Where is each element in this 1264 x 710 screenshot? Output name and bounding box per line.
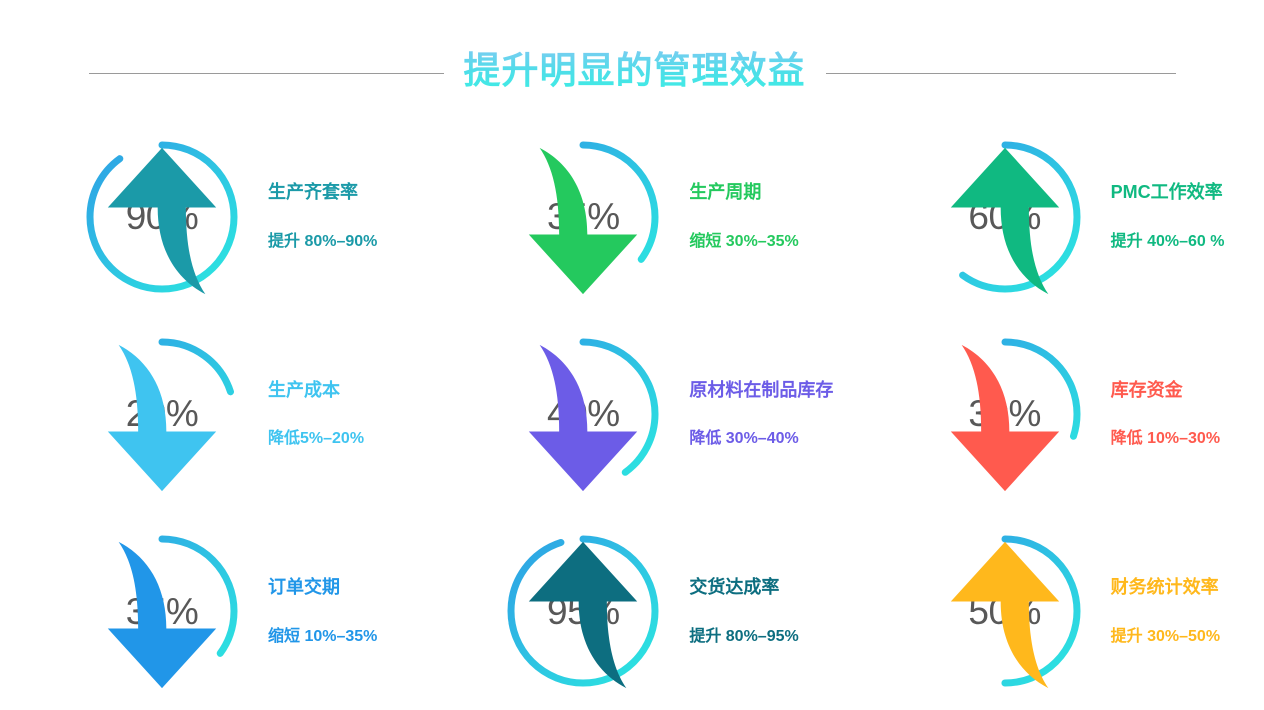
metric-title: 财务统计效率 <box>1111 577 1219 599</box>
metric-cell: 35%订单交期缩短 10%–35% <box>0 513 421 710</box>
metric-cell: 60%PMC工作效率提升 40%–60 % <box>843 118 1264 315</box>
gauge-center: 35% <box>499 133 667 301</box>
metric-labels: 生产齐套率提升 80%–90% <box>268 182 377 251</box>
gauge-donut: 20% <box>78 330 246 498</box>
metric-description: 缩短 10%–35% <box>268 627 377 646</box>
metric-cell: 35%生产周期缩短 30%–35% <box>421 118 842 315</box>
metric-labels: 订单交期缩短 10%–35% <box>268 577 377 646</box>
header-rule-right <box>826 73 1176 74</box>
metric-cell: 40%原材料在制品库存降低 30%–40% <box>421 315 842 512</box>
metric-labels: 交货达成率提升 80%–95% <box>689 577 798 646</box>
metric-title: 生产周期 <box>689 182 761 204</box>
metric-description: 提升 80%–95% <box>689 627 798 646</box>
arrow-up-icon <box>78 137 246 305</box>
gauge-center: 40% <box>499 330 667 498</box>
metric-title: 生产成本 <box>268 380 340 402</box>
arrow-down-icon <box>78 531 246 699</box>
arrow-up-icon <box>921 531 1089 699</box>
gauge-center: 60% <box>921 133 1089 301</box>
metric-description: 降低 10%–30% <box>1111 429 1220 448</box>
metric-title: 库存资金 <box>1111 380 1183 402</box>
metric-title: PMC工作效率 <box>1111 182 1223 204</box>
gauge-center: 30% <box>921 330 1089 498</box>
metric-labels: PMC工作效率提升 40%–60 % <box>1111 182 1225 251</box>
gauge-center: 95% <box>499 527 667 695</box>
metric-cell: 95%交货达成率提升 80%–95% <box>421 513 842 710</box>
metric-description: 缩短 30%–35% <box>689 232 798 251</box>
arrow-up-icon <box>499 531 667 699</box>
gauge-donut: 95% <box>499 527 667 695</box>
metric-labels: 生产成本降低5%–20% <box>268 380 364 449</box>
metric-cell: 30%库存资金降低 10%–30% <box>843 315 1264 512</box>
metric-labels: 库存资金降低 10%–30% <box>1111 380 1220 449</box>
gauge-donut: 40% <box>499 330 667 498</box>
gauge-center: 50% <box>921 527 1089 695</box>
metric-title: 生产齐套率 <box>268 182 358 204</box>
metric-grid: 90%生产齐套率提升 80%–90%35%生产周期缩短 30%–35%60%PM… <box>0 118 1264 710</box>
page-header: 提升明显的管理效益 <box>0 38 1264 108</box>
arrow-down-icon <box>499 137 667 305</box>
gauge-donut: 50% <box>921 527 1089 695</box>
metric-description: 提升 40%–60 % <box>1111 232 1225 251</box>
arrow-down-icon <box>78 334 246 502</box>
metric-cell: 50%财务统计效率提升 30%–50% <box>843 513 1264 710</box>
page-title: 提升明显的管理效益 <box>462 47 808 100</box>
gauge-donut: 35% <box>78 527 246 695</box>
gauge-donut: 60% <box>921 133 1089 301</box>
metric-description: 提升 30%–50% <box>1111 627 1220 646</box>
gauge-donut: 90% <box>78 133 246 301</box>
arrow-down-icon <box>499 334 667 502</box>
metric-description: 降低5%–20% <box>268 429 364 448</box>
arrow-down-icon <box>921 334 1089 502</box>
metric-title: 交货达成率 <box>689 577 779 599</box>
metric-title: 原材料在制品库存 <box>689 380 833 402</box>
gauge-center: 35% <box>78 527 246 695</box>
metric-labels: 原材料在制品库存降低 30%–40% <box>689 380 833 449</box>
gauge-donut: 35% <box>499 133 667 301</box>
metric-description: 提升 80%–90% <box>268 232 377 251</box>
gauge-center: 20% <box>78 330 246 498</box>
metric-labels: 生产周期缩短 30%–35% <box>689 182 798 251</box>
gauge-center: 90% <box>78 133 246 301</box>
gauge-donut: 30% <box>921 330 1089 498</box>
metric-cell: 90%生产齐套率提升 80%–90% <box>0 118 421 315</box>
arrow-up-icon <box>921 137 1089 305</box>
header-rule-left <box>89 73 444 74</box>
metric-cell: 20%生产成本降低5%–20% <box>0 315 421 512</box>
metric-labels: 财务统计效率提升 30%–50% <box>1111 577 1220 646</box>
metric-description: 降低 30%–40% <box>689 429 798 448</box>
metric-title: 订单交期 <box>268 577 340 599</box>
